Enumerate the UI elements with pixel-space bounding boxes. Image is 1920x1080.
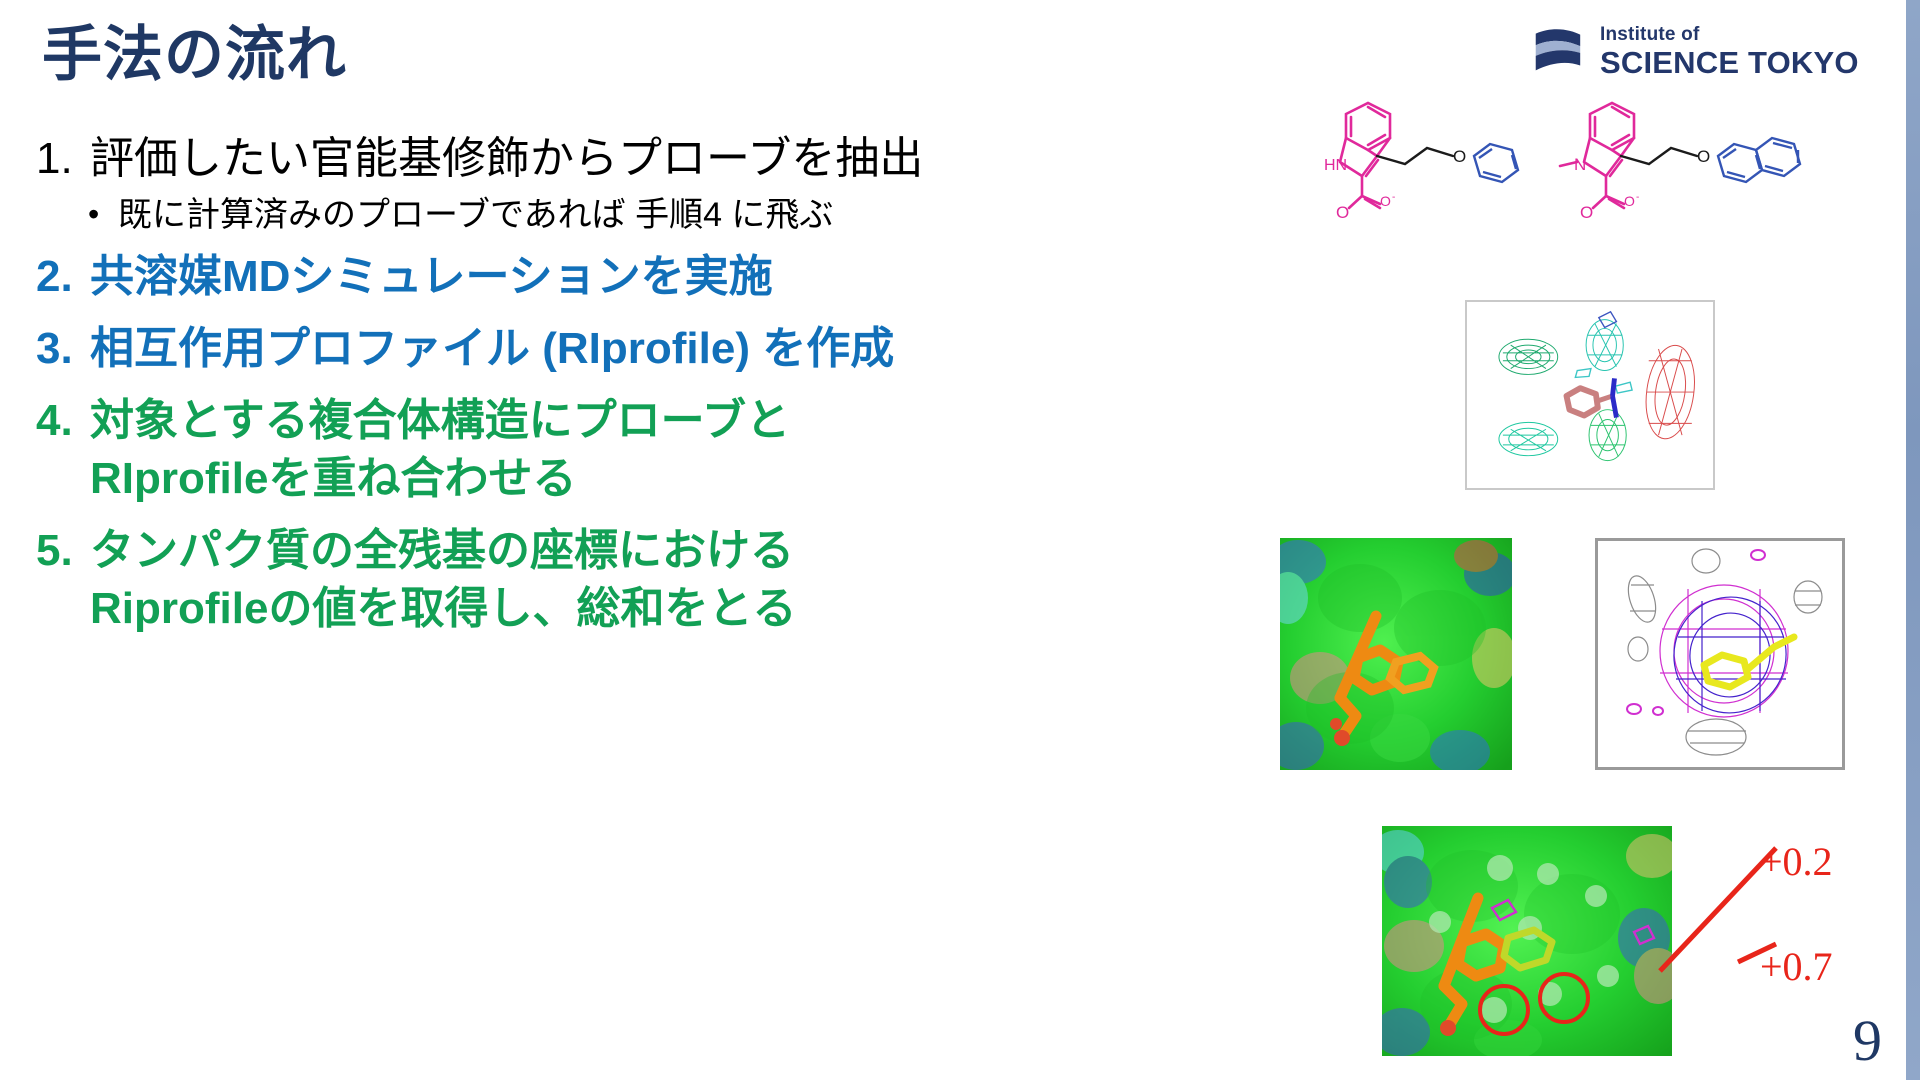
list-item-step-5: 5. タンパク質の全残基の座標における Riprofileの値を取得し、総和をと… bbox=[36, 522, 1046, 638]
sub-bullet-text: 既に計算済みのプローブであれば 手順4 に飛ぶ bbox=[118, 192, 833, 240]
step-number-1: 1. bbox=[36, 130, 90, 188]
step-text-5-line-1: タンパク質の全残基の座標における bbox=[90, 522, 796, 580]
probe-chemical-structures-figure: HN O O - O bbox=[1322, 100, 1862, 245]
list-item-step-2: 2. 共溶媒MDシミュレーションを実施 bbox=[36, 248, 1046, 306]
step-text-2: 共溶媒MDシミュレーションを実施 bbox=[90, 248, 773, 306]
chem-label-n: N bbox=[1574, 155, 1586, 174]
sub-bullet-step-1: • 既に計算済みのプローブであれば 手順4 に飛ぶ bbox=[88, 192, 1046, 240]
list-item-step-4: 4. 対象とする複合体構造にプローブと RIprofileを重ね合わせる bbox=[36, 392, 1046, 508]
svg-text:-: - bbox=[1392, 192, 1395, 203]
riprofile-mesh-figure bbox=[1465, 300, 1715, 490]
svg-text:O: O bbox=[1580, 203, 1593, 222]
step-number-2: 2. bbox=[36, 248, 90, 306]
step-text-1: 評価したい官能基修飾からプローブを抽出 bbox=[90, 130, 923, 188]
slide-canvas: Institute of SCIENCE TOKYO 手法の流れ 1. 評価した… bbox=[0, 0, 1920, 1080]
svg-text:O: O bbox=[1453, 147, 1466, 166]
logo-wordmark: Institute of SCIENCE TOKYO bbox=[1600, 25, 1859, 78]
overlaid-mesh-figure bbox=[1595, 538, 1845, 770]
science-tokyo-s-mark-icon bbox=[1528, 22, 1586, 80]
method-steps-list: 1. 評価したい官能基修飾からプローブを抽出 • 既に計算済みのプローブであれば… bbox=[36, 130, 1046, 652]
logo-line-1: Institute of bbox=[1600, 24, 1700, 45]
scored-surface-figure bbox=[1382, 826, 1672, 1056]
list-item-step-3: 3. 相互作用プロファイル (RIprofile) を作成 bbox=[36, 320, 1046, 378]
step-text-5: タンパク質の全残基の座標における Riprofileの値を取得し、総和をとる bbox=[90, 522, 796, 638]
institute-logo: Institute of SCIENCE TOKYO bbox=[1528, 22, 1859, 80]
page-title: 手法の流れ bbox=[42, 22, 347, 88]
slide-number: 9 bbox=[1853, 1007, 1882, 1074]
bullet-dot-icon: • bbox=[88, 192, 118, 237]
step-text-3: 相互作用プロファイル (RIprofile) を作成 bbox=[90, 320, 894, 378]
step-text-5-line-2: Riprofileの値を取得し、総和をとる bbox=[90, 580, 796, 638]
list-item-step-1: 1. 評価したい官能基修飾からプローブを抽出 bbox=[36, 130, 1046, 188]
svg-text:-: - bbox=[1636, 192, 1639, 203]
svg-text:O: O bbox=[1380, 193, 1391, 209]
step-text-4-line-1: 対象とする複合体構造にプローブと bbox=[90, 392, 790, 450]
step-number-3: 3. bbox=[36, 320, 90, 378]
step-text-4-line-2: RIprofileを重ね合わせる bbox=[90, 450, 790, 508]
svg-text:O: O bbox=[1624, 193, 1635, 209]
annotation-value-2: +0.7 bbox=[1760, 943, 1833, 990]
logo-line-2: SCIENCE TOKYO bbox=[1600, 47, 1859, 78]
chem-label-hn: HN bbox=[1324, 157, 1347, 174]
svg-text:O: O bbox=[1697, 147, 1710, 166]
svg-text:O: O bbox=[1336, 203, 1349, 222]
complex-surface-figure bbox=[1280, 538, 1512, 770]
step-text-4: 対象とする複合体構造にプローブと RIprofileを重ね合わせる bbox=[90, 392, 790, 508]
annotation-value-1: +0.2 bbox=[1760, 838, 1833, 885]
step-number-4: 4. bbox=[36, 392, 90, 450]
step-number-5: 5. bbox=[36, 522, 90, 580]
